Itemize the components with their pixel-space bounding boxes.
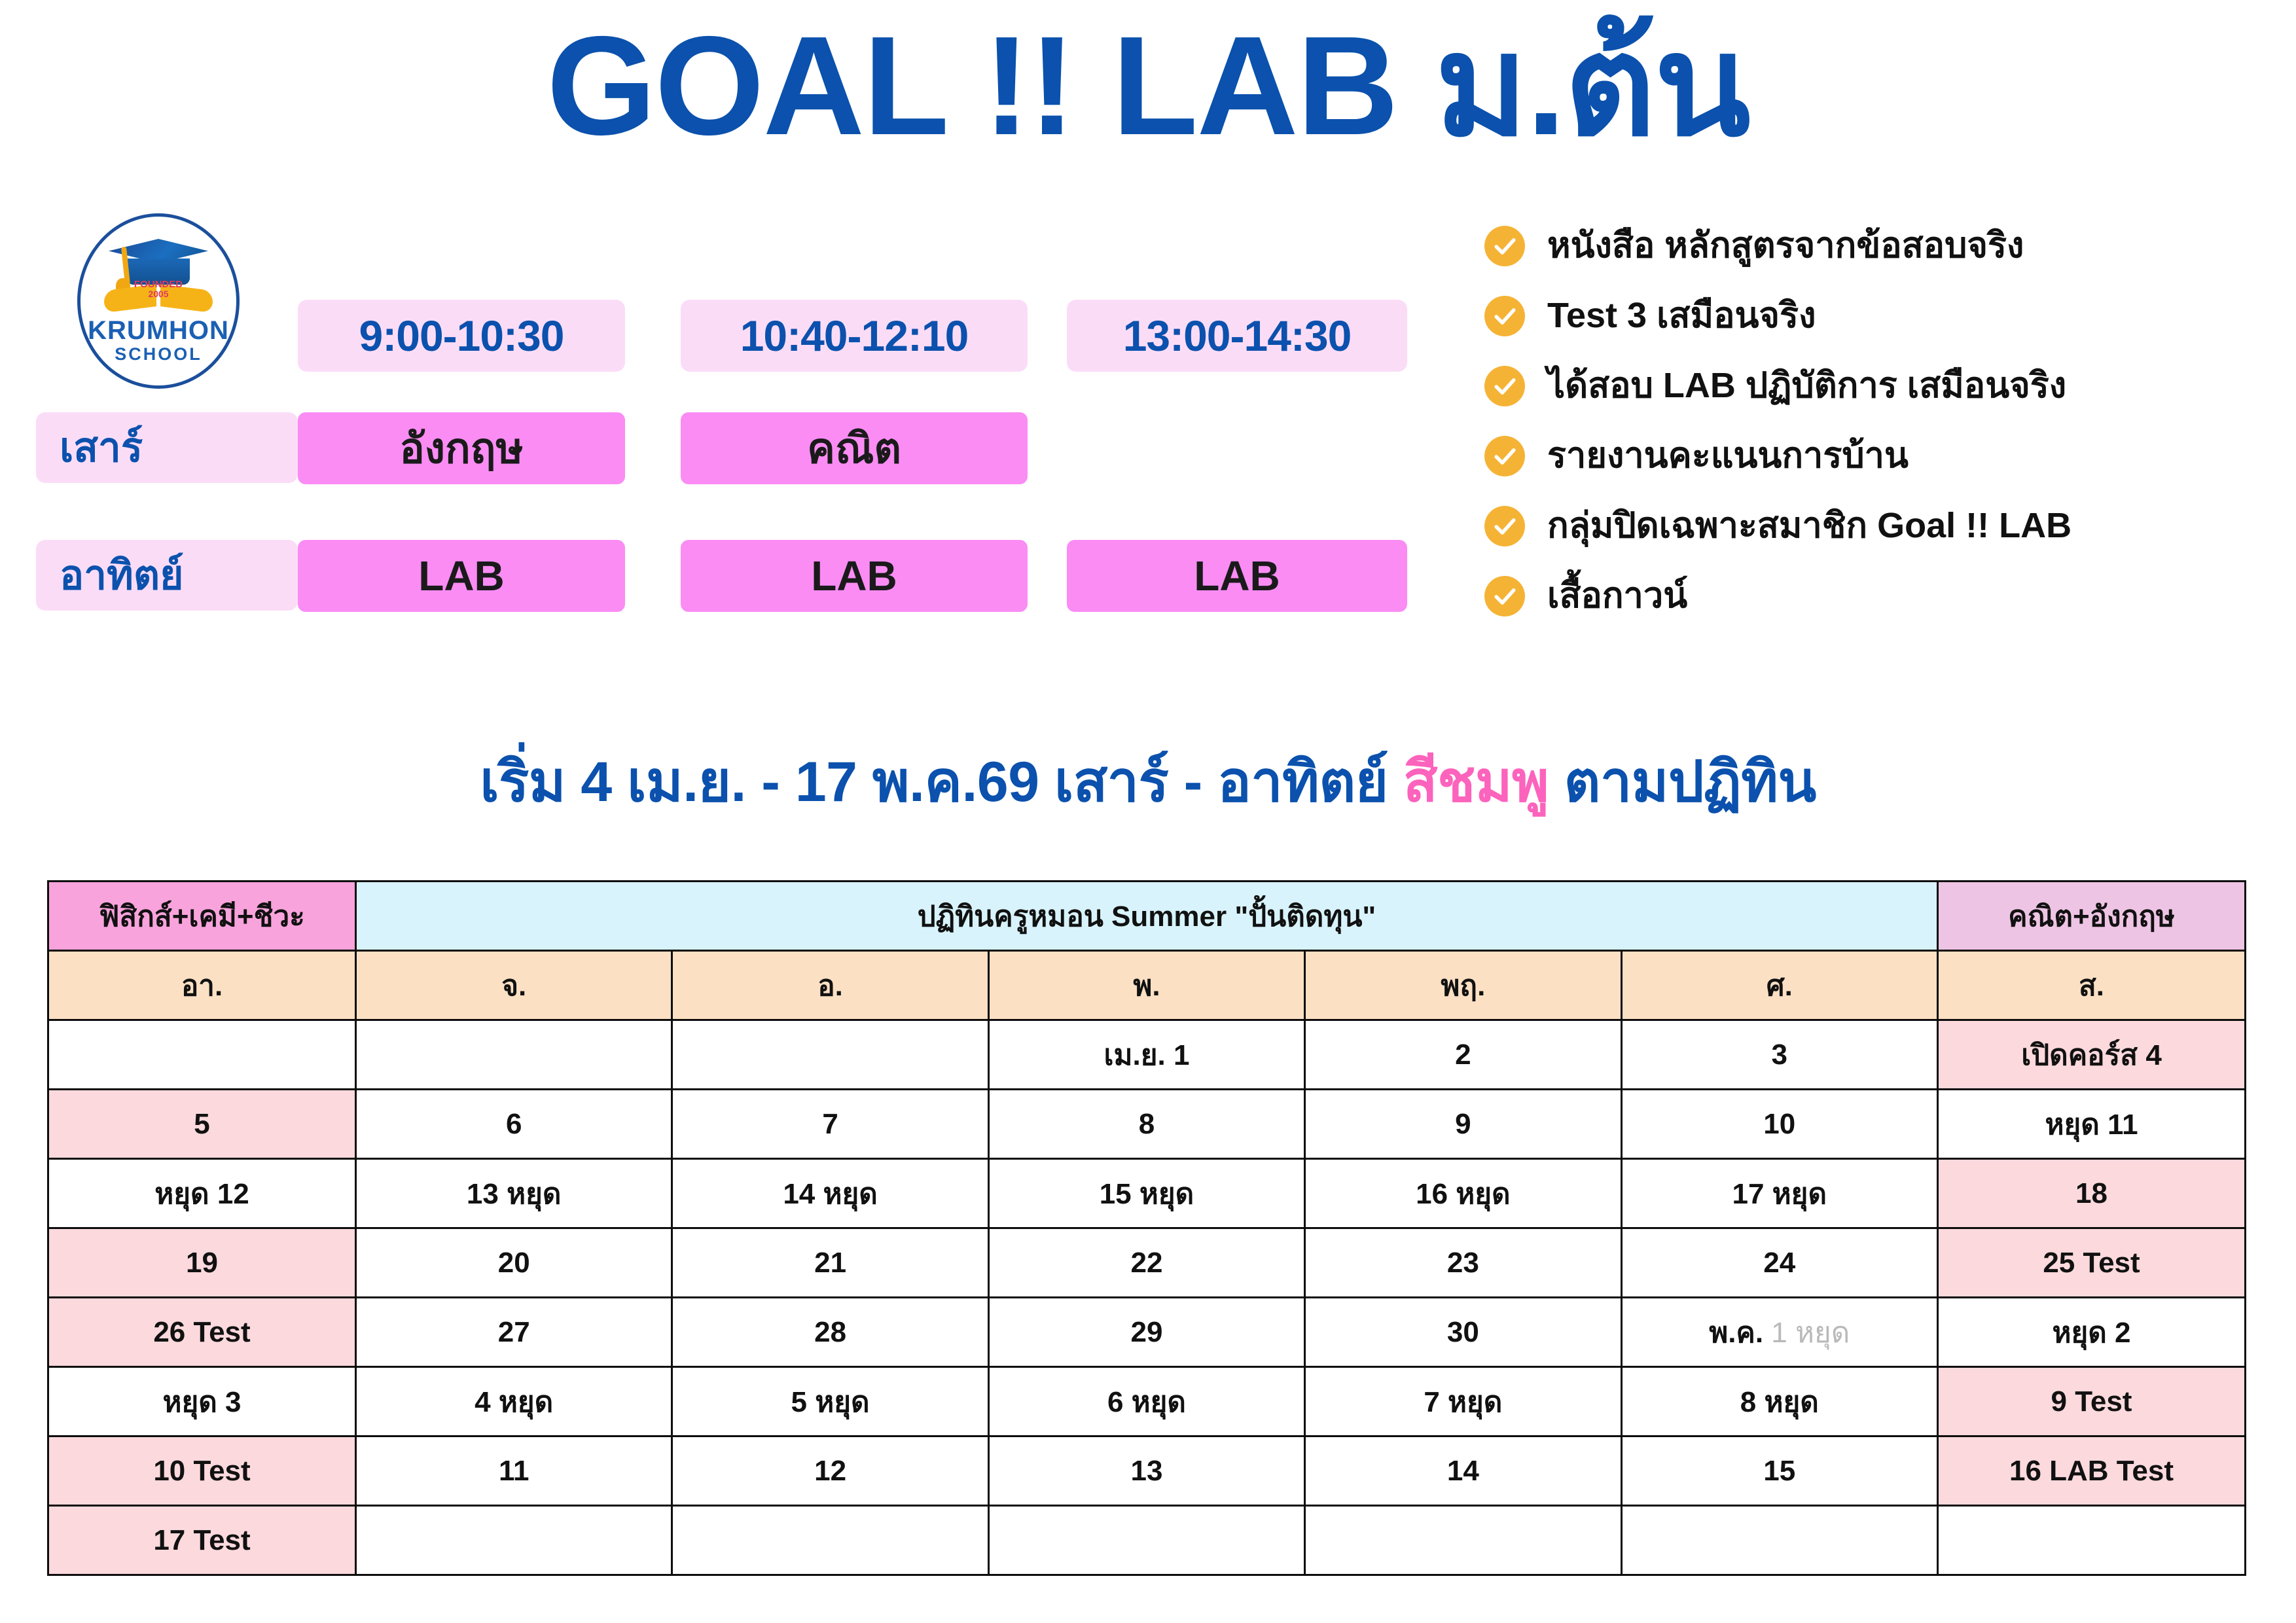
checklist-item-label: Test 3 เสมือนจริง [1547, 296, 1816, 335]
calendar-day-cell[interactable] [988, 1506, 1304, 1575]
calendar-day-cell[interactable]: 2 [1305, 1020, 1621, 1090]
calendar-day-cell[interactable]: 10 Test [48, 1436, 356, 1506]
checklist-item: กลุ่มปิดเฉพาะสมาชิก Goal !! LAB [1484, 491, 2276, 561]
calendar-body: เม.ย. 123เปิดคอร์ส 45678910หยุด 11หยุด 1… [48, 1020, 2246, 1575]
calendar-day-cell[interactable]: หยุด 11 [1938, 1090, 2246, 1159]
calendar-day-cell[interactable] [672, 1506, 988, 1575]
calendar-day-cell[interactable]: 7 [672, 1090, 988, 1159]
calendar-day-cell[interactable]: 4 หยุด [356, 1367, 672, 1436]
check-circle-icon [1484, 296, 1525, 336]
calendar-day-cell[interactable]: 5 [48, 1090, 356, 1159]
dow-sun: อา. [48, 951, 356, 1020]
calendar-day-cell[interactable]: 23 [1305, 1228, 1621, 1298]
calendar-day-cell[interactable]: 13 หยุด [356, 1159, 672, 1228]
calendar-day-cell[interactable]: 15 หยุด [988, 1159, 1304, 1228]
calendar-day-cell[interactable]: 28 [672, 1298, 988, 1367]
calendar-day-cell[interactable]: 7 หยุด [1305, 1367, 1621, 1436]
calendar-day-cell[interactable]: 20 [356, 1228, 672, 1298]
calendar-day-cell[interactable]: เปิดคอร์ส 4 [1938, 1020, 2246, 1090]
checklist-item-label: กลุ่มปิดเฉพาะสมาชิก Goal !! LAB [1547, 507, 2072, 545]
calendar-title-row: ฟิสิกส์+เคมี+ชีวะ ปฏิทินครูหมอน Summer "… [48, 882, 2246, 951]
calendar-day-cell[interactable]: หยุด 2 [1938, 1298, 2246, 1367]
schedule-cell-sun-slot2: LAB [681, 540, 1028, 612]
calendar-day-cell[interactable]: 17 Test [48, 1506, 356, 1575]
course-period-headline: เริ่ม 4 เม.ย. - 17 พ.ค.69 เสาร์ - อาทิตย… [0, 736, 2296, 826]
checklist-item: หนังสือ หลักสูตรจากข้อสอบจริง [1484, 211, 2276, 281]
schedule-cell-sun-slot3: LAB [1067, 540, 1407, 612]
calendar-day-cell[interactable]: 11 [356, 1436, 672, 1506]
calendar-week-row: เม.ย. 123เปิดคอร์ส 4 [48, 1020, 2246, 1090]
calendar-day-cell[interactable]: 9 [1305, 1090, 1621, 1159]
calendar-day-cell[interactable]: 3 [1621, 1020, 1937, 1090]
checklist-item: Test 3 เสมือนจริง [1484, 281, 2276, 351]
calendar-day-cell[interactable]: 10 [1621, 1090, 1937, 1159]
checklist-item: ได้สอบ LAB ปฏิบัติการ เสมือนจริง [1484, 351, 2276, 421]
calendar-day-cell[interactable] [1938, 1506, 2246, 1575]
calendar-day-cell[interactable] [48, 1020, 356, 1090]
dow-sat: ส. [1938, 951, 2246, 1020]
dow-thu: พฤ. [1305, 951, 1621, 1020]
schedule-time-slot-2: 10:40-12:10 [681, 300, 1028, 372]
calendar-day-cell[interactable] [356, 1506, 672, 1575]
logo-founded-year: 2005 [134, 289, 183, 298]
checklist-item-label: ได้สอบ LAB ปฏิบัติการ เสมือนจริง [1547, 366, 2066, 405]
dow-wed: พ. [988, 951, 1304, 1020]
calendar-table: ฟิสิกส์+เคมี+ชีวะ ปฏิทินครูหมอน Summer "… [47, 880, 2246, 1576]
calendar-day-cell[interactable]: หยุด 3 [48, 1367, 356, 1436]
logo-subname: SCHOOL [115, 346, 202, 363]
headline-part1: เริ่ม 4 เม.ย. - 17 พ.ค.69 เสาร์ - อาทิตย… [480, 751, 1403, 813]
schedule-day-sunday: อาทิตย์ [36, 540, 298, 611]
calendar-day-cell[interactable]: 9 Test [1938, 1367, 2246, 1436]
logo-name: KRUMHON [88, 317, 229, 344]
dow-tue: อ. [672, 951, 988, 1020]
calendar-day-cell[interactable]: พ.ค. 1 หยุด [1621, 1298, 1937, 1367]
calendar-day-cell[interactable]: 16 หยุด [1305, 1159, 1621, 1228]
calendar-day-cell[interactable]: 21 [672, 1228, 988, 1298]
schedule-cell-sun-slot1: LAB [298, 540, 625, 612]
calendar-week-row: 19202122232425 Test [48, 1228, 2246, 1298]
calendar-day-cell[interactable]: หยุด 12 [48, 1159, 356, 1228]
calendar-week-row: หยุด 1213 หยุด14 หยุด15 หยุด16 หยุด17 หย… [48, 1159, 2246, 1228]
calendar-day-cell[interactable]: 27 [356, 1298, 672, 1367]
calendar-day-cell[interactable]: 18 [1938, 1159, 2246, 1228]
calendar-day-cell[interactable]: เม.ย. 1 [988, 1020, 1304, 1090]
checklist-item: รายงานคะแนนการบ้าน [1484, 421, 2276, 491]
calendar-day-cell[interactable]: 14 หยุด [672, 1159, 988, 1228]
calendar-day-cell[interactable]: 8 [988, 1090, 1304, 1159]
calendar-day-cell[interactable]: 6 หยุด [988, 1367, 1304, 1436]
dow-fri: ศ. [1621, 951, 1937, 1020]
calendar-day-cell[interactable]: 26 Test [48, 1298, 356, 1367]
schedule-day-saturday: เสาร์ [36, 412, 298, 483]
check-circle-icon [1484, 226, 1525, 266]
calendar-week-row: 17 Test [48, 1506, 2246, 1575]
open-book-icon: FOUNDED 2005 [103, 283, 214, 313]
calendar-day-cell[interactable]: 12 [672, 1436, 988, 1506]
calendar-day-cell[interactable]: 14 [1305, 1436, 1621, 1506]
check-circle-icon [1484, 576, 1525, 616]
headline-part2: ตามปฏิทิน [1549, 751, 1816, 813]
calendar-day-cell[interactable]: 19 [48, 1228, 356, 1298]
schedule-time-slot-3: 13:00-14:30 [1067, 300, 1407, 372]
calendar-day-cell[interactable]: 30 [1305, 1298, 1621, 1367]
calendar-day-cell[interactable]: 24 [1621, 1228, 1937, 1298]
check-circle-icon [1484, 506, 1525, 546]
checklist-item-label: หนังสือ หลักสูตรจากข้อสอบจริง [1547, 226, 2024, 265]
calendar-day-cell[interactable]: 25 Test [1938, 1228, 2246, 1298]
calendar-day-cell[interactable]: 22 [988, 1228, 1304, 1298]
calendar-day-cell[interactable]: 8 หยุด [1621, 1367, 1937, 1436]
poster-root: GOAL !! LAB ม.ต้น FOUNDED 2005 KRUMHON S… [0, 0, 2296, 1623]
calendar-day-cell[interactable] [356, 1020, 672, 1090]
headline-pink-word: สีชมพู [1403, 751, 1549, 813]
schedule-time-slot-1: 9:00-10:30 [298, 300, 625, 372]
calendar-week-row: 26 Test27282930พ.ค. 1 หยุดหยุด 2 [48, 1298, 2246, 1367]
calendar-dow-row: อา. จ. อ. พ. พฤ. ศ. ส. [48, 951, 2246, 1020]
check-circle-icon [1484, 436, 1525, 476]
page-title: GOAL !! LAB ม.ต้น [0, 12, 2296, 160]
calendar-day-cell[interactable] [1621, 1506, 1937, 1575]
calendar-header-title: ปฏิทินครูหมอน Summer "ปั้นติดทุน" [356, 882, 1938, 951]
schedule-cell-sat-slot1: อังกฤษ [298, 412, 625, 484]
check-circle-icon [1484, 366, 1525, 406]
calendar-day-cell[interactable]: 13 [988, 1436, 1304, 1506]
checklist-item-label: รายงานคะแนนการบ้าน [1547, 437, 1909, 475]
calendar-week-row: 10 Test111213141516 LAB Test [48, 1436, 2246, 1506]
school-logo: FOUNDED 2005 KRUMHON SCHOOL [77, 213, 240, 389]
feature-checklist: หนังสือ หลักสูตรจากข้อสอบจริง Test 3 เสม… [1484, 211, 2276, 631]
calendar-day-cell[interactable] [672, 1020, 988, 1090]
calendar-header-math: คณิต+อังกฤษ [1938, 882, 2246, 951]
calendar-week-row: หยุด 34 หยุด5 หยุด6 หยุด7 หยุด8 หยุด9 Te… [48, 1367, 2246, 1436]
schedule-cell-sat-slot2: คณิต [681, 412, 1028, 484]
checklist-item: เสื้อกาวน์ [1484, 561, 2276, 631]
calendar-day-cell[interactable]: 15 [1621, 1436, 1937, 1506]
calendar-day-cell[interactable]: 16 LAB Test [1938, 1436, 2246, 1506]
calendar-week-row: 5678910หยุด 11 [48, 1090, 2246, 1159]
calendar-day-cell[interactable]: 6 [356, 1090, 672, 1159]
calendar-day-cell[interactable]: 17 หยุด [1621, 1159, 1937, 1228]
calendar-day-cell[interactable] [1305, 1506, 1621, 1575]
calendar-day-cell[interactable]: 29 [988, 1298, 1304, 1367]
calendar-header-science: ฟิสิกส์+เคมี+ชีวะ [48, 882, 356, 951]
dow-mon: จ. [356, 951, 672, 1020]
checklist-item-label: เสื้อกาวน์ [1547, 577, 1687, 615]
calendar-day-cell[interactable]: 5 หยุด [672, 1367, 988, 1436]
